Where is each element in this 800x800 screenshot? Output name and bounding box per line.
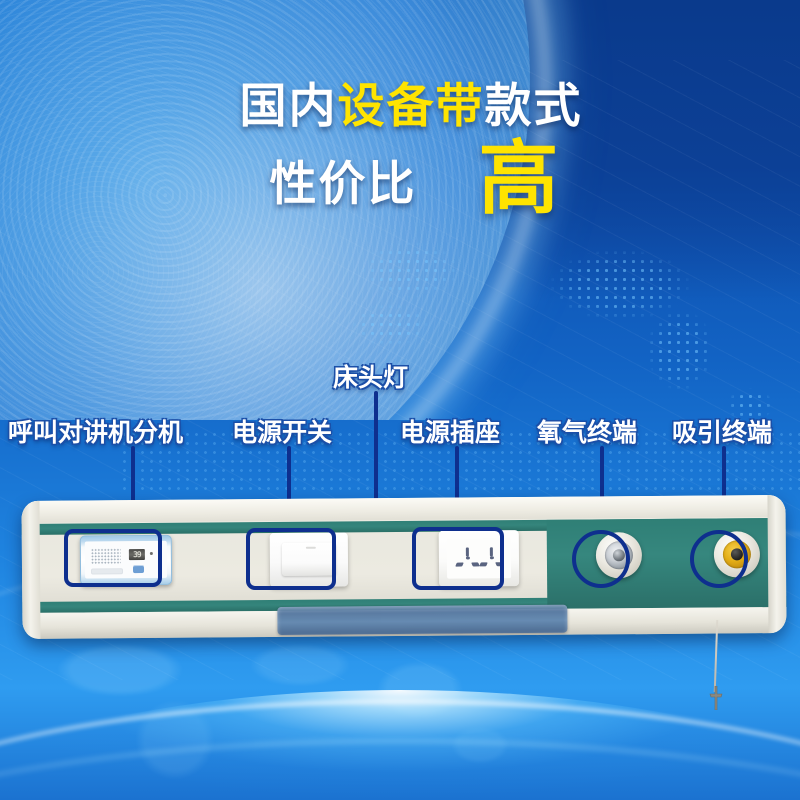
panel-end-cap-left <box>21 501 40 639</box>
highlight-oxygen <box>572 530 630 588</box>
headline-line1-part2: 款式 <box>485 79 583 132</box>
headline-line1-part1: 国内 <box>240 79 338 132</box>
headline-line2-text: 性价比 <box>270 145 417 214</box>
callout-label-power-switch: 电源开关 <box>232 413 332 449</box>
callout-label-power-socket: 电源插座 <box>400 413 500 449</box>
headline-line2-emphasis: 高 <box>479 143 561 215</box>
cord-hook-icon <box>706 686 726 710</box>
highlight-power-switch <box>246 528 336 590</box>
bed-lamp-diffuser[interactable] <box>277 605 567 635</box>
headline-line-2: 性价比 高 <box>0 143 800 215</box>
callout-label-intercom: 呼叫对讲机分机 <box>8 413 183 449</box>
headline-line-1: 国内设备带款式 <box>0 78 800 133</box>
callout-label-oxygen: 氧气终端 <box>537 413 637 449</box>
highlight-suction <box>690 530 748 588</box>
callout-label-bed-lamp: 床头灯 <box>333 358 408 394</box>
callout-label-suction: 吸引终端 <box>672 413 772 449</box>
headline-block: 国内设备带款式 性价比 高 <box>0 78 800 215</box>
panel-end-cap-right <box>767 495 786 633</box>
product-banner: 国内设备带款式 性价比 高 呼叫对讲机分机 电源开关 床头灯 电源插座 氧气终端… <box>0 0 800 800</box>
highlight-power-socket <box>412 527 504 590</box>
headline-line1-highlight: 设备带 <box>338 79 485 132</box>
highlight-intercom <box>64 529 162 587</box>
